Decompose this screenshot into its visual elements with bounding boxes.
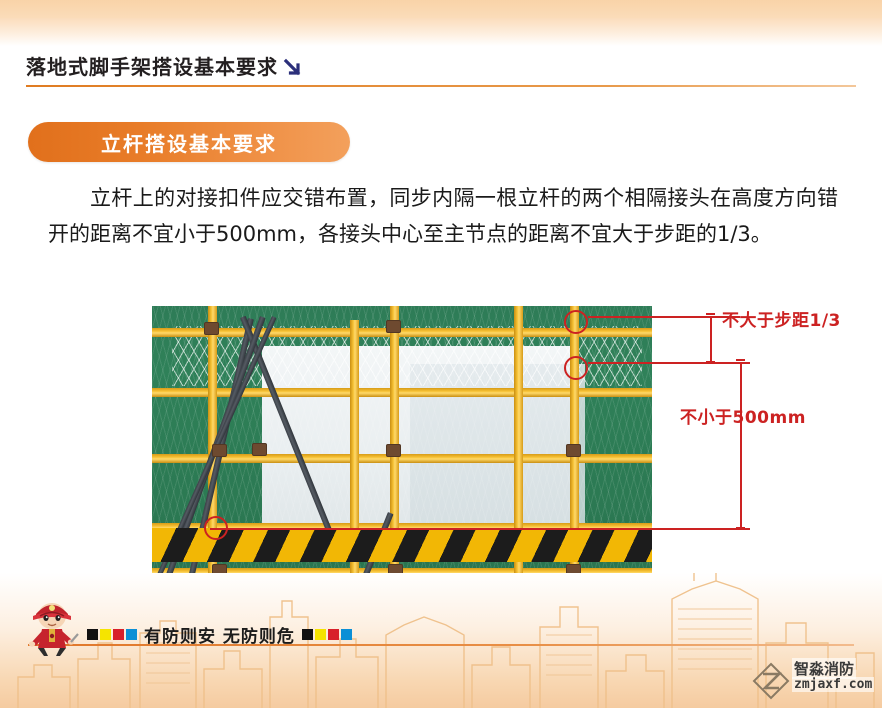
swatch-blue-left (126, 629, 137, 640)
coupler-marker-middle (564, 356, 588, 380)
photo-coupler-e (566, 444, 581, 457)
photo-coupler-a (204, 322, 219, 335)
dimension-line-step (710, 316, 712, 364)
swatch-black-left (87, 629, 98, 640)
section-badge-label: 立杆搭设基本要求 (28, 122, 350, 162)
dimension-label-step: 不大于步距1/3 (722, 306, 841, 331)
section-badge: 立杆搭设基本要求 (28, 122, 350, 162)
swatch-black-right (302, 629, 313, 640)
dimension-tick-offset-top (736, 359, 745, 361)
swatch-red-left (113, 629, 124, 640)
footer-slogan-text: 有防则安 无防则危 (144, 622, 295, 647)
page-title: 落地式脚手架搭设基本要求 (26, 54, 278, 80)
dimension-tick-step-top (706, 313, 715, 315)
swatch-blue-right (341, 629, 352, 640)
coupler-marker-top (564, 310, 588, 334)
slide-canvas: 落地式脚手架搭设基本要求 立杆搭设基本要求 立杆上的对接扣件应交错布置，同步内隔… (0, 0, 882, 708)
watermark: 智淼消防 zmjaxf.com (752, 658, 878, 704)
swatch-yellow-right (315, 629, 326, 640)
footer-slogan-row: 有防则安 无防则危 (86, 623, 353, 645)
dimension-tick-offset-bottom (736, 527, 745, 529)
dimension-line-offset (740, 362, 742, 530)
dimension-label-offset: 不小于500mm (680, 403, 806, 428)
watermark-url: zmjaxf.com (792, 677, 874, 692)
swatch-yellow-left (100, 629, 111, 640)
watermark-name: 智淼消防 (792, 658, 856, 679)
arrow-down-right-icon (282, 56, 306, 80)
photo-coupler-b (386, 320, 401, 333)
page-header: 落地式脚手架搭设基本要求 (26, 54, 856, 94)
swatch-red-right (328, 629, 339, 640)
coupler-marker-bottom (204, 516, 228, 540)
dimension-tick-step-bottom (706, 361, 715, 363)
photo-coupler-f (252, 443, 267, 456)
body-paragraph: 立杆上的对接扣件应交错布置，同步内隔一根立杆的两个相隔接头在高度方向错开的距离不… (48, 180, 838, 252)
top-gradient-band-inner (0, 0, 882, 18)
diamond-z-logo-icon (752, 662, 790, 700)
photo-hazard-stripe-band (152, 528, 652, 562)
header-divider (26, 85, 856, 87)
photo-coupler-c (212, 444, 227, 457)
firefighter-mascot-icon (22, 598, 82, 656)
photo-coupler-d (386, 444, 401, 457)
scaffolding-photo (152, 306, 652, 602)
